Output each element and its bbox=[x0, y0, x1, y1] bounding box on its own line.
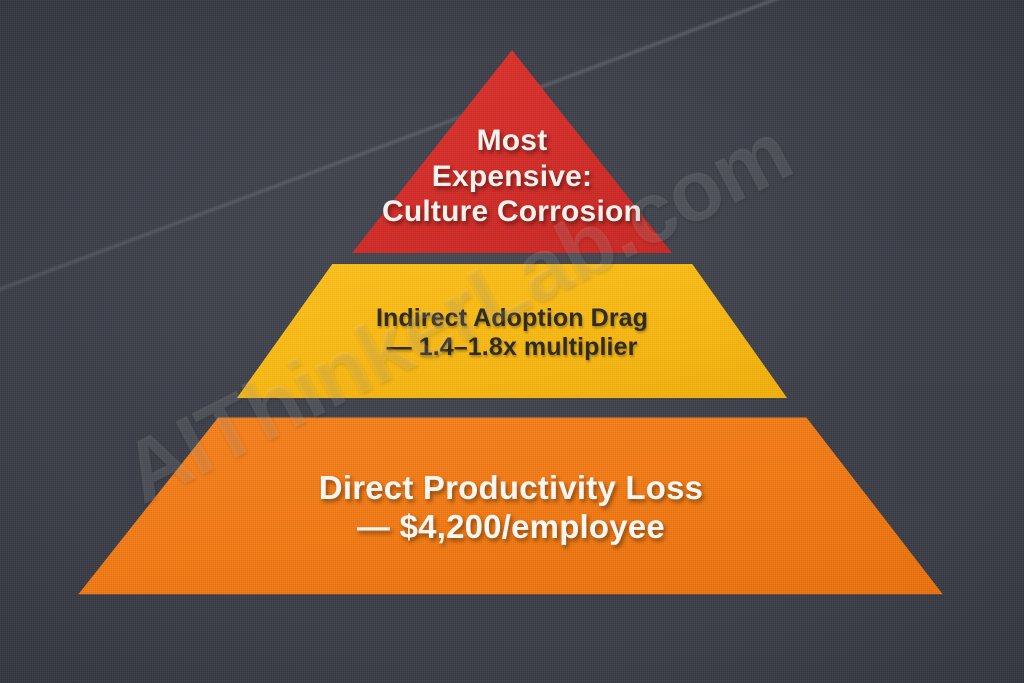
pyramid-tier-top[interactable]: Most Expensive: Culture Corrosion bbox=[352, 48, 672, 253]
tier-top-label: Most Expensive: Culture Corrosion bbox=[382, 123, 642, 229]
pyramid-tier-middle[interactable]: Indirect Adoption Drag — 1.4–1.8x multip… bbox=[233, 264, 791, 400]
pyramid-tier-base[interactable]: Direct Productivity Loss — $4,200/employ… bbox=[74, 416, 948, 596]
pyramid: Most Expensive: Culture Corrosion Indire… bbox=[0, 0, 1024, 683]
pyramid-diagram-canvas: AIThinkerLab.com Most Expensive: Culture… bbox=[0, 0, 1024, 683]
tier-middle-label: Indirect Adoption Drag — 1.4–1.8x multip… bbox=[376, 304, 648, 363]
tier-base-label: Direct Productivity Loss — $4,200/employ… bbox=[319, 469, 703, 547]
